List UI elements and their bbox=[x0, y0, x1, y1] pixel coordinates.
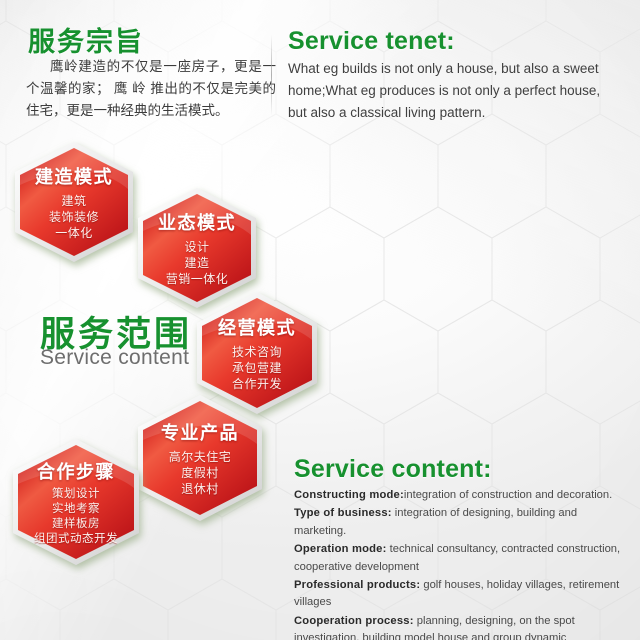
service-content-row: Constructing mode:integration of constru… bbox=[294, 487, 630, 504]
service-content-label: Type of business: bbox=[294, 507, 392, 519]
service-content-label: Professional products: bbox=[294, 579, 420, 591]
service-content-row: Professional products: golf houses, holi… bbox=[294, 577, 630, 612]
service-content-label: Constructing mode: bbox=[294, 489, 404, 501]
service-scope-heading-en: Service content bbox=[40, 346, 189, 370]
service-tenet-body-en: What eg builds is not only a house, but … bbox=[288, 58, 618, 124]
service-content-value: integration of construction and decorati… bbox=[404, 489, 612, 501]
service-tenet-heading-en: Service tenet: bbox=[288, 27, 455, 56]
service-tenet-body-cn: 鹰岭建造的不仅是一座房子，更是一个温馨的家； 鹰 岭 推出的不仅是完美的住宅，更… bbox=[26, 56, 276, 122]
service-content-label: Operation mode: bbox=[294, 543, 387, 555]
service-content-row: Operation mode: technical consultancy, c… bbox=[294, 541, 630, 576]
service-content-label: Cooperation process: bbox=[294, 615, 414, 627]
hexagon-cooperation-process[interactable]: 合作步骤 策划设计 实地考察 建样板房 组团式动态开发 bbox=[6, 436, 146, 568]
poster-canvas: 服务宗旨 鹰岭建造的不仅是一座房子，更是一个温馨的家； 鹰 岭 推出的不仅是完美… bbox=[0, 0, 640, 640]
service-content-row: Cooperation process: planning, designing… bbox=[294, 613, 630, 640]
service-content-list: Constructing mode:integration of constru… bbox=[294, 487, 630, 640]
vertical-divider bbox=[271, 34, 272, 116]
hexagon-construction-mode[interactable]: 建造模式 建筑 装饰装修 一体化 bbox=[8, 139, 140, 265]
service-content-row: Type of business: integration of designi… bbox=[294, 505, 630, 540]
service-tenet-heading-cn: 服务宗旨 bbox=[28, 20, 144, 59]
service-content-heading: Service content: bbox=[294, 455, 492, 484]
hexagon-professional-products[interactable]: 专业产品 高尔夫住宅 度假村 退休村 bbox=[131, 392, 269, 524]
